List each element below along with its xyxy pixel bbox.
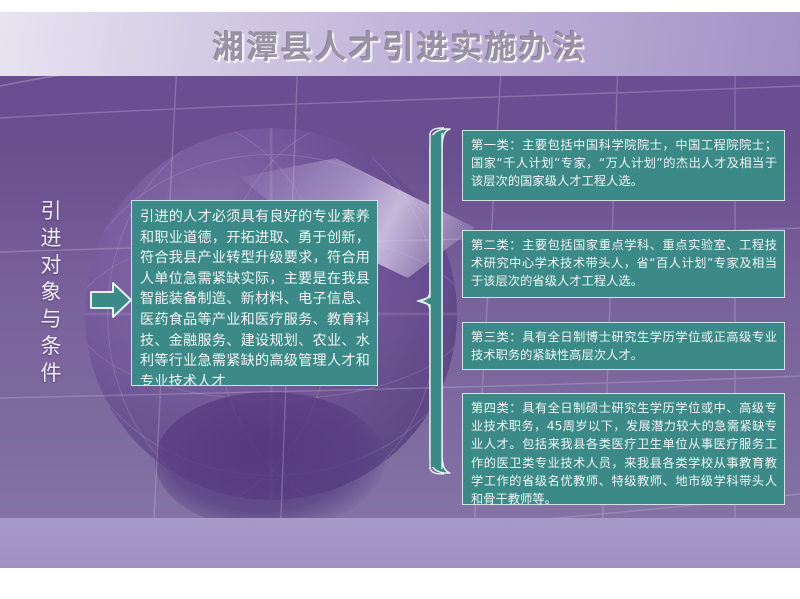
top-white-strip bbox=[0, 0, 800, 12]
category-box-3: 第三类：具有全日制博士研究生学历学位或正高级专业技术职务的紧缺性高层次人才。 bbox=[462, 322, 785, 370]
main-description-panel: 引进的人才必须具有良好的专业素养和职业道德，开拓进取、勇于创新，符合我县产业转型… bbox=[131, 200, 378, 386]
globe-shadow bbox=[155, 392, 385, 530]
left-label-char-6: 件 bbox=[30, 360, 72, 387]
slide-canvas: 湘潭县人才引进实施办法 引 进 对 象 与 条 件 引进的人才必须具有良好的专业… bbox=[0, 0, 800, 599]
footer-light-band bbox=[0, 518, 800, 568]
left-label-char-5: 条 bbox=[30, 333, 72, 360]
left-label-char-0: 引 bbox=[30, 198, 72, 225]
curly-brace-icon bbox=[404, 127, 460, 475]
page-title: 湘潭县人才引进实施办法 bbox=[0, 22, 800, 67]
right-arrow-icon bbox=[89, 281, 133, 319]
left-label-char-2: 对 bbox=[30, 252, 72, 279]
category-box-2: 第二类：主要包括国家重点学科、重点实验室、工程技术研究中心学术技术带头人，省“百… bbox=[462, 230, 785, 298]
left-label-char-3: 象 bbox=[30, 279, 72, 306]
category-box-4: 第四类：具有全日制硕士研究生学历学位或中、高级专业技术职务，45周岁以下，发展潜… bbox=[462, 393, 785, 505]
left-label-char-4: 与 bbox=[30, 306, 72, 333]
left-vertical-label: 引 进 对 象 与 条 件 bbox=[30, 198, 72, 387]
category-box-1: 第一类：主要包括中国科学院院士，中国工程院院士；国家“千人计划”专家，“万人计划… bbox=[462, 130, 785, 201]
left-label-char-1: 进 bbox=[30, 225, 72, 252]
bottom-white-strip bbox=[0, 568, 800, 599]
